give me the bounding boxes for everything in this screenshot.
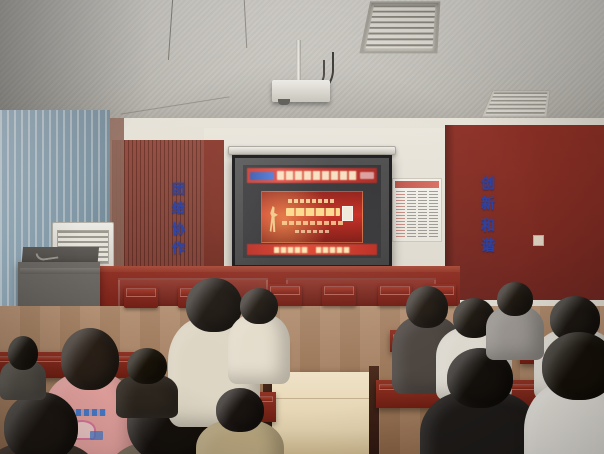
- chair-backrest: [126, 288, 156, 297]
- slide-title-bar: [247, 168, 377, 183]
- projection-screen[interactable]: [232, 155, 392, 268]
- chair-backrest: [324, 286, 354, 295]
- banner-text-line: [288, 199, 336, 203]
- footer-text: [316, 247, 350, 253]
- person-boy-small-center: [228, 288, 290, 394]
- vent-slats-secondary: [485, 93, 547, 115]
- poster-column: [396, 191, 405, 238]
- hair-highlight: [542, 332, 604, 400]
- banner-text-line: [282, 221, 344, 225]
- poster-columns: [396, 191, 438, 238]
- air-vent-icon: [359, 1, 440, 53]
- person-grey-shirt-mid-right: [486, 282, 544, 370]
- vent-slats: [366, 6, 436, 49]
- person-head: [216, 388, 264, 432]
- stage-chair-4[interactable]: [322, 284, 356, 306]
- footer-text: [274, 247, 308, 253]
- person-head: [497, 282, 533, 316]
- poster-column: [418, 191, 427, 238]
- projector-lens-icon: [278, 99, 290, 105]
- notice-board-poster: [392, 178, 442, 242]
- person-khaki-right-of-center: [196, 388, 284, 454]
- screen-roller-bar: [228, 146, 396, 155]
- lectern-lip: [20, 268, 100, 274]
- person-partial-center-low: [116, 348, 178, 428]
- presentation-slide: [243, 165, 381, 258]
- banner-figure-silhouette-icon: [269, 206, 278, 232]
- wall-small-frame: [533, 235, 544, 246]
- wall-calligraphy-right-1: 创新: [478, 176, 498, 216]
- screen-surface: [235, 158, 389, 265]
- slide-badge-icon: [250, 172, 274, 180]
- air-vent-secondary-icon: [481, 90, 551, 117]
- poster-column: [429, 191, 438, 238]
- hair-highlight: [240, 288, 278, 324]
- person-torso: [228, 314, 290, 384]
- person-back-row-left: [0, 336, 46, 410]
- poster-header: [395, 181, 439, 188]
- person-head: [240, 288, 278, 324]
- slide-title-text: [277, 171, 357, 180]
- hair-highlight: [497, 282, 533, 316]
- slide-badge-right-icon: [360, 172, 374, 179]
- wall-red-panel-right: [445, 125, 604, 300]
- hair-highlight: [216, 388, 264, 432]
- qr-code-icon: [342, 206, 353, 221]
- poster-column: [407, 191, 416, 238]
- wall-calligraphy-right-2: 和谐: [478, 218, 498, 258]
- banner-text-line: [295, 230, 331, 233]
- slide-footer-bar: [247, 244, 377, 255]
- banner-headline: [286, 208, 340, 216]
- slide-banner: [261, 191, 363, 243]
- hair-highlight: [127, 348, 167, 384]
- lecture-hall-photo: 团结 协作 创新 和谐: [0, 0, 604, 454]
- person-head: [542, 332, 604, 400]
- wall-wood-panel-left: [112, 140, 204, 285]
- hair-highlight: [8, 336, 38, 370]
- wall-calligraphy-left-1: 团结: [168, 182, 187, 220]
- stage-chair-1[interactable]: [124, 286, 158, 308]
- person-head: [8, 336, 38, 370]
- person-head: [127, 348, 167, 384]
- wall-calligraphy-left-2: 协作: [168, 222, 187, 260]
